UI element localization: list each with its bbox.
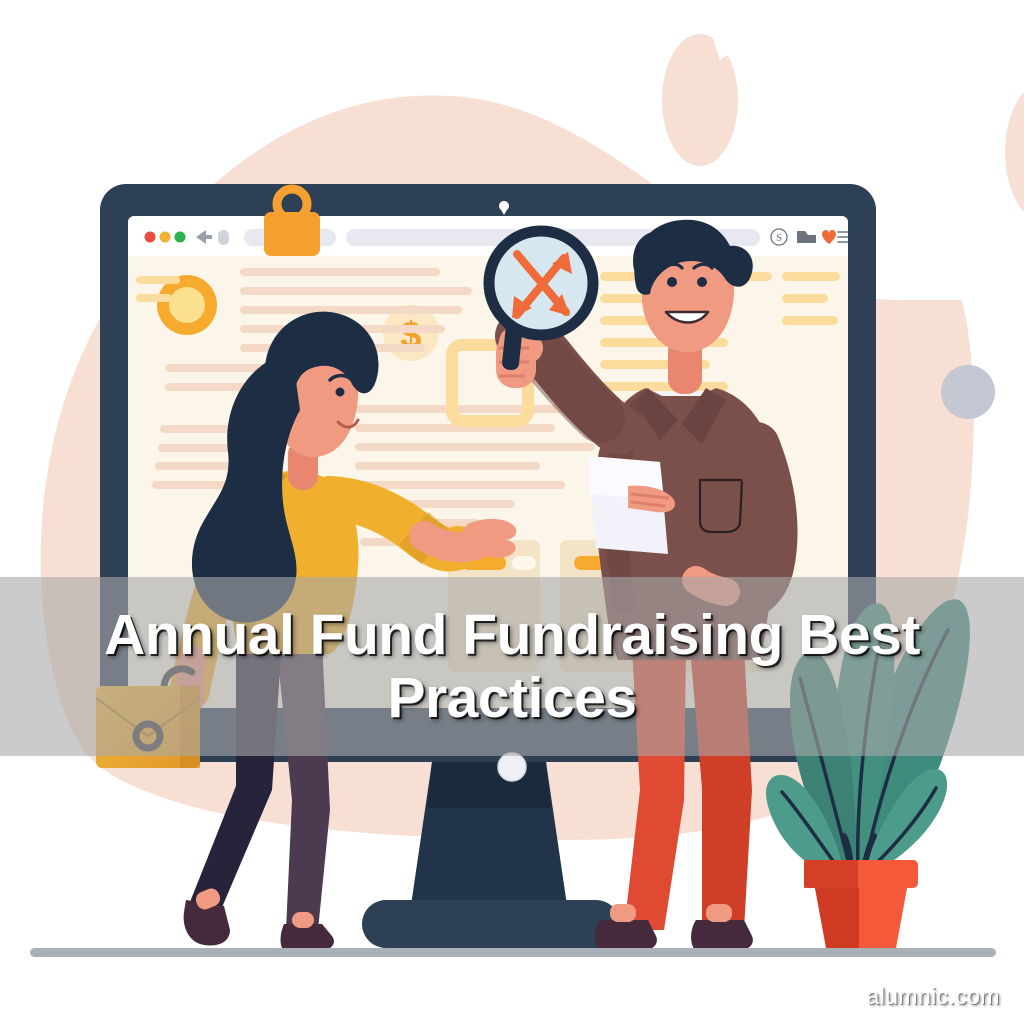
man-eye-left	[667, 277, 677, 287]
illustration-canvas: S $	[0, 0, 1024, 1024]
monitor-base	[362, 900, 620, 948]
circled-s-glyph: S	[776, 232, 782, 244]
man-shoe-left	[595, 920, 657, 952]
man-eye-right	[697, 277, 707, 287]
gray-circle	[941, 365, 995, 419]
minimize-dot[interactable]	[160, 232, 171, 243]
close-dot[interactable]	[145, 232, 156, 243]
woman-eye	[336, 388, 345, 397]
scene-illustration: S $	[0, 0, 1024, 1024]
man-shoe-right	[691, 920, 753, 952]
title-overlay-band	[0, 577, 1024, 756]
browser-tab[interactable]	[218, 230, 229, 245]
watermark: alumnic.com	[867, 983, 1001, 1010]
ground-line	[30, 948, 996, 957]
maximize-dot[interactable]	[175, 232, 186, 243]
